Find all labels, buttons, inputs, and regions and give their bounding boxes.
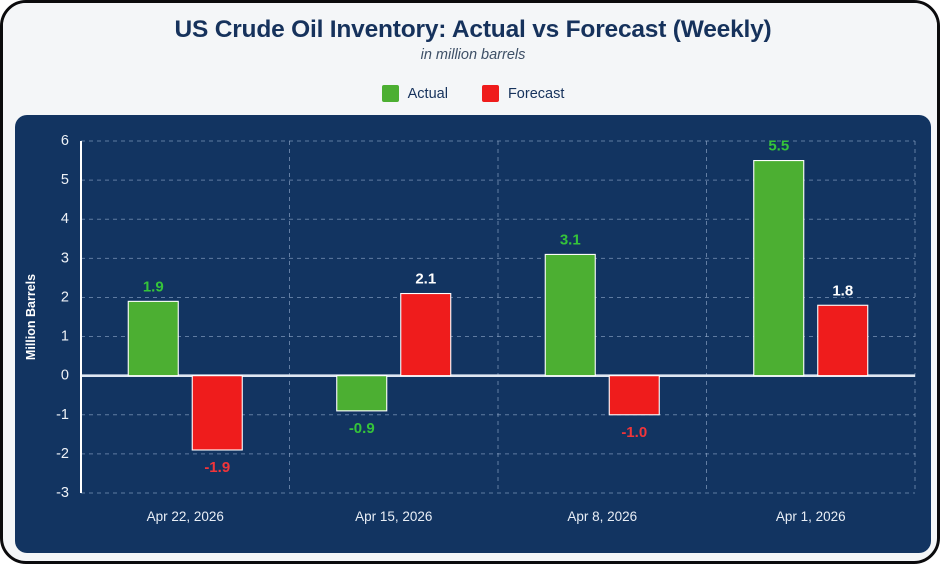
- y-axis-tick-label: -1: [56, 407, 69, 423]
- y-axis-tick-label: 4: [61, 211, 69, 227]
- y-axis-tick-label: 6: [61, 133, 69, 149]
- x-axis-ticks-group: Apr 22, 2026Apr 15, 2026Apr 8, 2026Apr 1…: [147, 509, 846, 524]
- bar-chart-svg: 6543210-1-2-3 Million Barrels 1.9-1.9-0.…: [15, 115, 931, 553]
- bar-value-label: 3.1: [560, 231, 581, 248]
- bar-actual-0[interactable]: [128, 301, 178, 375]
- legend-swatch-forecast: [482, 85, 499, 102]
- y-axis-tick-label: -2: [56, 446, 69, 462]
- x-axis-tick-label: Apr 15, 2026: [355, 509, 432, 524]
- chart-legend: Actual Forecast: [3, 85, 940, 102]
- bar-actual-2[interactable]: [545, 254, 595, 375]
- y-axis-title: Million Barrels: [24, 274, 38, 360]
- y-axis-title-group: Million Barrels: [24, 274, 38, 360]
- bar-forecast-1[interactable]: [401, 294, 451, 376]
- x-axis-tick-label: Apr 1, 2026: [776, 509, 846, 524]
- bar-forecast-0[interactable]: [192, 376, 242, 450]
- y-axis-tick-label: 3: [61, 250, 69, 266]
- legend-swatch-actual: [382, 85, 399, 102]
- bar-actual-3[interactable]: [754, 161, 804, 376]
- bar-value-label: 1.9: [143, 278, 164, 295]
- x-axis-tick-label: Apr 22, 2026: [147, 509, 224, 524]
- legend-item-forecast[interactable]: Forecast: [482, 85, 564, 102]
- bar-actual-1[interactable]: [337, 376, 387, 411]
- y-axis-tick-label: -3: [56, 485, 69, 501]
- x-axis-tick-label: Apr 8, 2026: [567, 509, 637, 524]
- bar-forecast-2[interactable]: [609, 376, 659, 415]
- bar-value-label: 2.1: [415, 271, 436, 288]
- bar-value-label: 1.8: [832, 282, 853, 299]
- y-axis-tick-label: 2: [61, 289, 69, 305]
- y-axis-tick-label: 0: [61, 368, 69, 384]
- legend-label-forecast: Forecast: [508, 86, 564, 102]
- y-axis-tick-label: 5: [61, 172, 69, 188]
- y-axis-tick-label: 1: [61, 329, 69, 345]
- plot-area: 6543210-1-2-3 Million Barrels 1.9-1.9-0.…: [15, 115, 931, 553]
- y-axis-ticks-group: 6543210-1-2-3: [56, 133, 69, 501]
- bar-value-label: -1.0: [621, 424, 647, 441]
- legend-label-actual: Actual: [408, 86, 448, 102]
- bar-labels-group: 1.9-1.9-0.92.13.1-1.05.51.8: [143, 138, 853, 476]
- bar-value-label: 5.5: [768, 138, 789, 155]
- bar-value-label: -0.9: [349, 420, 375, 437]
- chart-figure: US Crude Oil Inventory: Actual vs Foreca…: [0, 0, 940, 564]
- bar-value-label: -1.9: [204, 459, 230, 476]
- bar-forecast-3[interactable]: [818, 305, 868, 375]
- chart-header: US Crude Oil Inventory: Actual vs Foreca…: [3, 3, 940, 115]
- chart-subtitle: in million barrels: [3, 47, 940, 63]
- page-title: US Crude Oil Inventory: Actual vs Foreca…: [3, 16, 940, 44]
- legend-item-actual[interactable]: Actual: [382, 85, 448, 102]
